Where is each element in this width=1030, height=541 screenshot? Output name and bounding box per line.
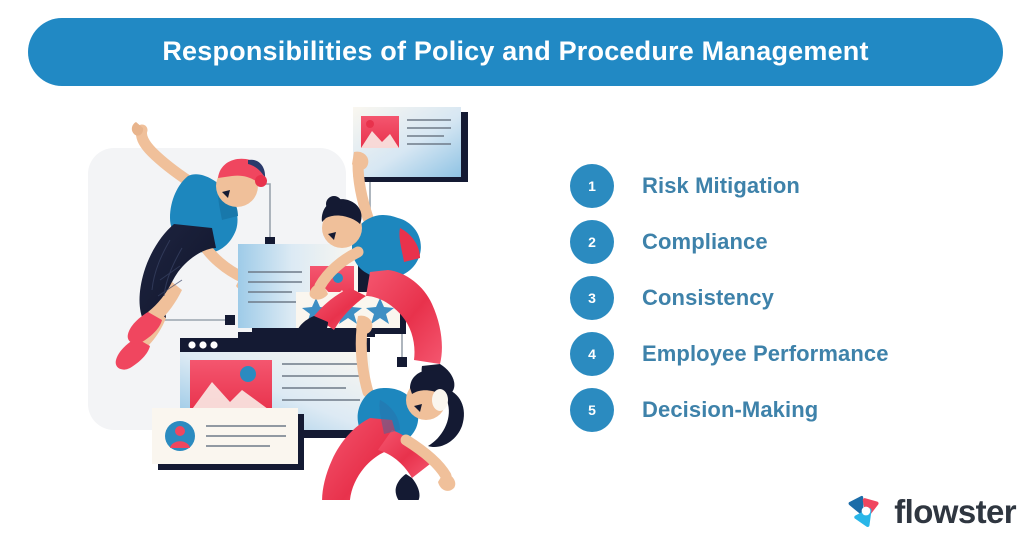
illustration-artwork [70,100,540,500]
responsibilities-list: 1 Risk Mitigation 2 Compliance 3 Consist… [570,158,990,438]
page-title: Responsibilities of Policy and Procedure… [162,37,868,67]
list-item-label: Employee Performance [642,341,889,367]
list-item-label: Consistency [642,285,774,311]
profile-card [152,408,304,470]
list-item[interactable]: 5 Decision-Making [570,382,990,438]
flowster-wordmark: flowster [894,495,1016,528]
flowster-logo-icon [847,492,885,530]
list-item-number: 1 [570,164,614,208]
list-item-number: 3 [570,276,614,320]
list-item-label: Risk Mitigation [642,173,800,199]
list-item[interactable]: 3 Consistency [570,270,990,326]
infographic-page: Responsibilities of Policy and Procedure… [0,0,1030,541]
list-item[interactable]: 4 Employee Performance [570,326,990,382]
illustration [70,100,540,500]
list-item-label: Decision-Making [642,397,818,423]
list-item[interactable]: 2 Compliance [570,214,990,270]
list-item-number: 4 [570,332,614,376]
list-item[interactable]: 1 Risk Mitigation [570,158,990,214]
list-item-number: 2 [570,220,614,264]
list-item-number: 5 [570,388,614,432]
list-item-label: Compliance [642,229,768,255]
document-card-top [353,107,468,182]
flowster-logo: flowster [847,489,1016,533]
header-banner: Responsibilities of Policy and Procedure… [28,18,1003,86]
